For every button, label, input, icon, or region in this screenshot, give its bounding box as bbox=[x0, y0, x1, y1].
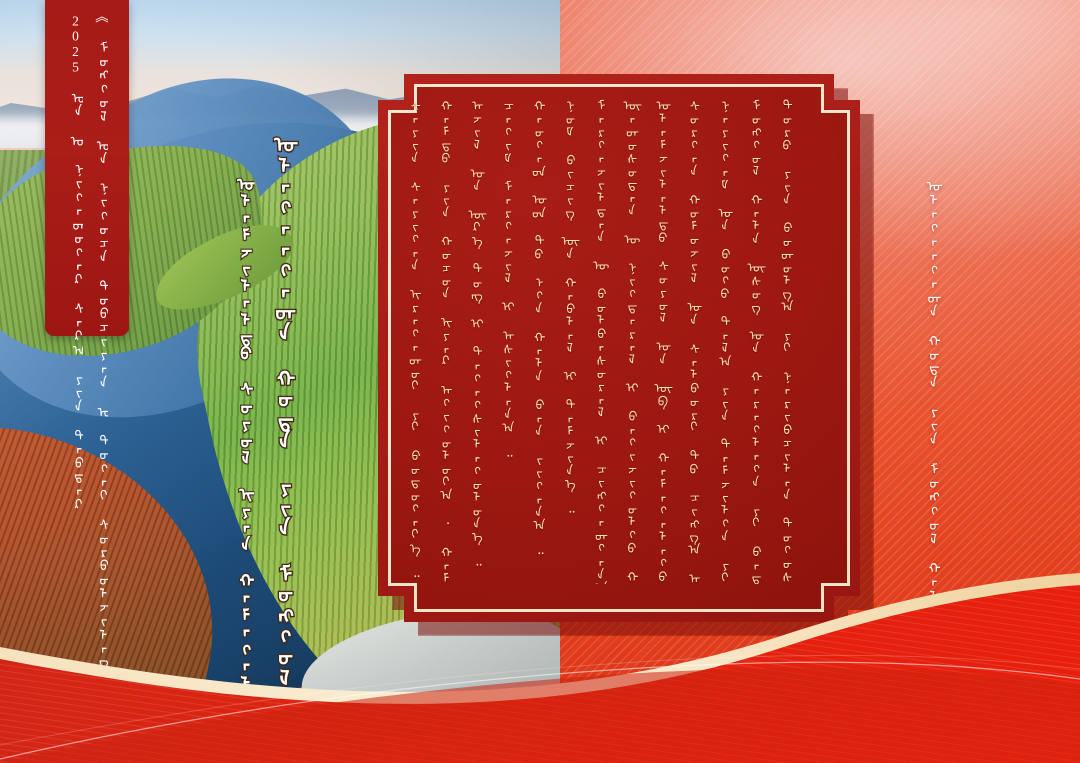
main-announcement-card: ᠲᠥᠷᠥ ᠶᠢᠨ ᠪᠣᠳᠣᠯᠭ᠎ᠠ ᠶᠢ ᠨᠠᠷᠢᠪᠴᠢᠯᠠᠨ ᠲᠤᠭᠤᠰᠢᠯᠠ… bbox=[378, 74, 874, 636]
card-column: ᠮᠡᠷᠭᠡᠵᠢᠯᠲᠡᠨ ᠦ ᠪᠣᠯᠪᠠᠰᠤᠷᠠᠯ ᠢ ᠴᠢᠩᠭᠠᠳᠬᠠᠨ᠎ᠠ ᠃ bbox=[591, 98, 622, 584]
banner-line-2: 2025 ᠣᠨ ᠦ ᠨᠢᠭᠡᠳᠦᠭᠡᠷ ᠰᠠᠷ᠎ᠠ ᠶᠢᠨ ᠳᠡᠪᠲᠡᠷ bbox=[62, 13, 87, 510]
bottom-wave-decoration bbox=[0, 573, 1080, 763]
card-column: ᠴᠠᠬᠢᠮ ᠮᠡᠷᠭᠡᠵᠢᠯ ᠢ ᠠᠰᠢᠭᠯᠠᠨ᠎ᠠ ᠃ bbox=[498, 98, 529, 584]
card-column: ᠰᠤᠷᠭᠠᠨ ᠬᠥᠮᠦᠵᠢᠯ ᠤᠨ ᠰᠠᠯᠪᠤᠷᠢ ᠳᠤ ᠴᠢᠩᠭ᠎ᠠ ᠠᠩᠬᠠ… bbox=[684, 98, 715, 584]
card-column: ᠨᠡᠶᠢᠭᠡᠮ ᠤᠨ ᠪᠦᠬᠦ ᠲᠠᠯ᠎ᠠ ᠶᠢᠨ ᠳᠡᠮᠵᠢᠯᠭᠡ ᠶᠢ ᠣᠯ… bbox=[715, 98, 746, 584]
card-text-columns: ᠲᠥᠷᠥ ᠶᠢᠨ ᠪᠣᠳᠣᠯᠭ᠎ᠠ ᠶᠢ ᠨᠠᠷᠢᠪᠴᠢᠯᠠᠨ ᠲᠤᠭᠤᠰᠢᠯᠠ… bbox=[404, 98, 808, 584]
poster-root: 2025 ᠣᠨ ᠦ ᠨᠢᠭᠡᠳᠦᠭᠡᠷ ᠰᠠᠷ᠎ᠠ ᠶᠢᠨ ᠳᠡᠪᠲᠡᠷ 《 ᠮ… bbox=[0, 0, 1080, 763]
card-column: ᠬᠡᠦᠬᠡᠳ ᠤᠳ ᠲᠤ ᠡᠬᠡ ᠬᠡᠯᠡ ᠪᠡᠨ ᠵᠢᠭᠠᠨ᠎ᠠ ᠃ bbox=[529, 98, 560, 584]
card-column: ᠰᠠᠶᠢᠨ ᠰᠠᠶᠢᠬᠠᠨ ᠢᠷᠡᠭᠡᠳᠦᠢ ᠶᠢ ᠪᠦᠲᠦᠭᠡᠶ᠎ᠡ ᠃ bbox=[405, 98, 436, 584]
card-column: ᠬᠠᠮᠲᠤ ᠶᠢᠨ ᠬᠦᠴᠦᠨ ᠢᠶᠡᠷ ᠠᠬᠢᠭᠤᠯᠤᠶ᠎ᠠ ᠂ ᠬᠠᠮᠲᠤ … bbox=[436, 98, 467, 584]
card-column: ᠠᠵᠢᠯ ᠤᠨ ᠦᠷ᠎ᠡ ᠳ᠋ᠦᠩ ᠢ ᠳᠡᠭᠡᠭᠰᠢᠯᠡᠭᠦᠯᠦᠨ᠎ᠡ ᠃ bbox=[467, 98, 498, 584]
card-column: ᠮᠣᠩᠭᠣᠯ ᠬᠡᠯᠡ ᠦᠰᠦᠭ ᠤᠨ ᠬᠡᠷᠡᠭᠯᠡᠭᠡ ᠶᠢ ᠪᠠᠲᠤᠯᠠᠬ… bbox=[746, 98, 777, 584]
series-label-banner: 2025 ᠣᠨ ᠦ ᠨᠢᠭᠡᠳᠦᠭᠡᠷ ᠰᠠᠷ᠎ᠠ ᠶᠢᠨ ᠳᠡᠪᠲᠡᠷ 《 ᠮ… bbox=[45, 0, 129, 336]
card-column: ᠤᠯᠠᠮᠵᠢᠯᠠᠯᠲᠤ ᠰᠤᠶᠤᠯ ᠤᠨ ᠥᠪ ᠢ ᠬᠠᠮᠠᠭᠠᠯᠠᠬᠤ ᠶᠢ … bbox=[653, 98, 684, 584]
card-column: ᠲᠥᠷᠥ ᠶᠢᠨ ᠪᠣᠳᠣᠯᠭ᠎ᠠ ᠶᠢ ᠨᠠᠷᠢᠪᠴᠢᠯᠠᠨ ᠲᠤᠭᠤᠰᠢᠯᠠ… bbox=[777, 98, 808, 584]
card-column: ᠨᠣᠮ ᠪᠢᠴᠢᠭ ᠦᠨ ᠬᠡᠪᠯᠡᠯ ᠢ ᠳᠡᠮᠵᠢᠨ᠎ᠡ ᠃ bbox=[560, 98, 591, 584]
wave-svg bbox=[0, 573, 1080, 763]
card-column: ᠦᠨᠳᠦᠰᠦᠲᠡᠨ ᠦ ᠨᠢᠭᠲᠠᠷᠠᠯ ᠢ ᠪᠡᠬᠢᠵᠢᠭᠦᠯᠬᠦ ᠬᠡᠷᠡᠭ… bbox=[622, 98, 653, 584]
